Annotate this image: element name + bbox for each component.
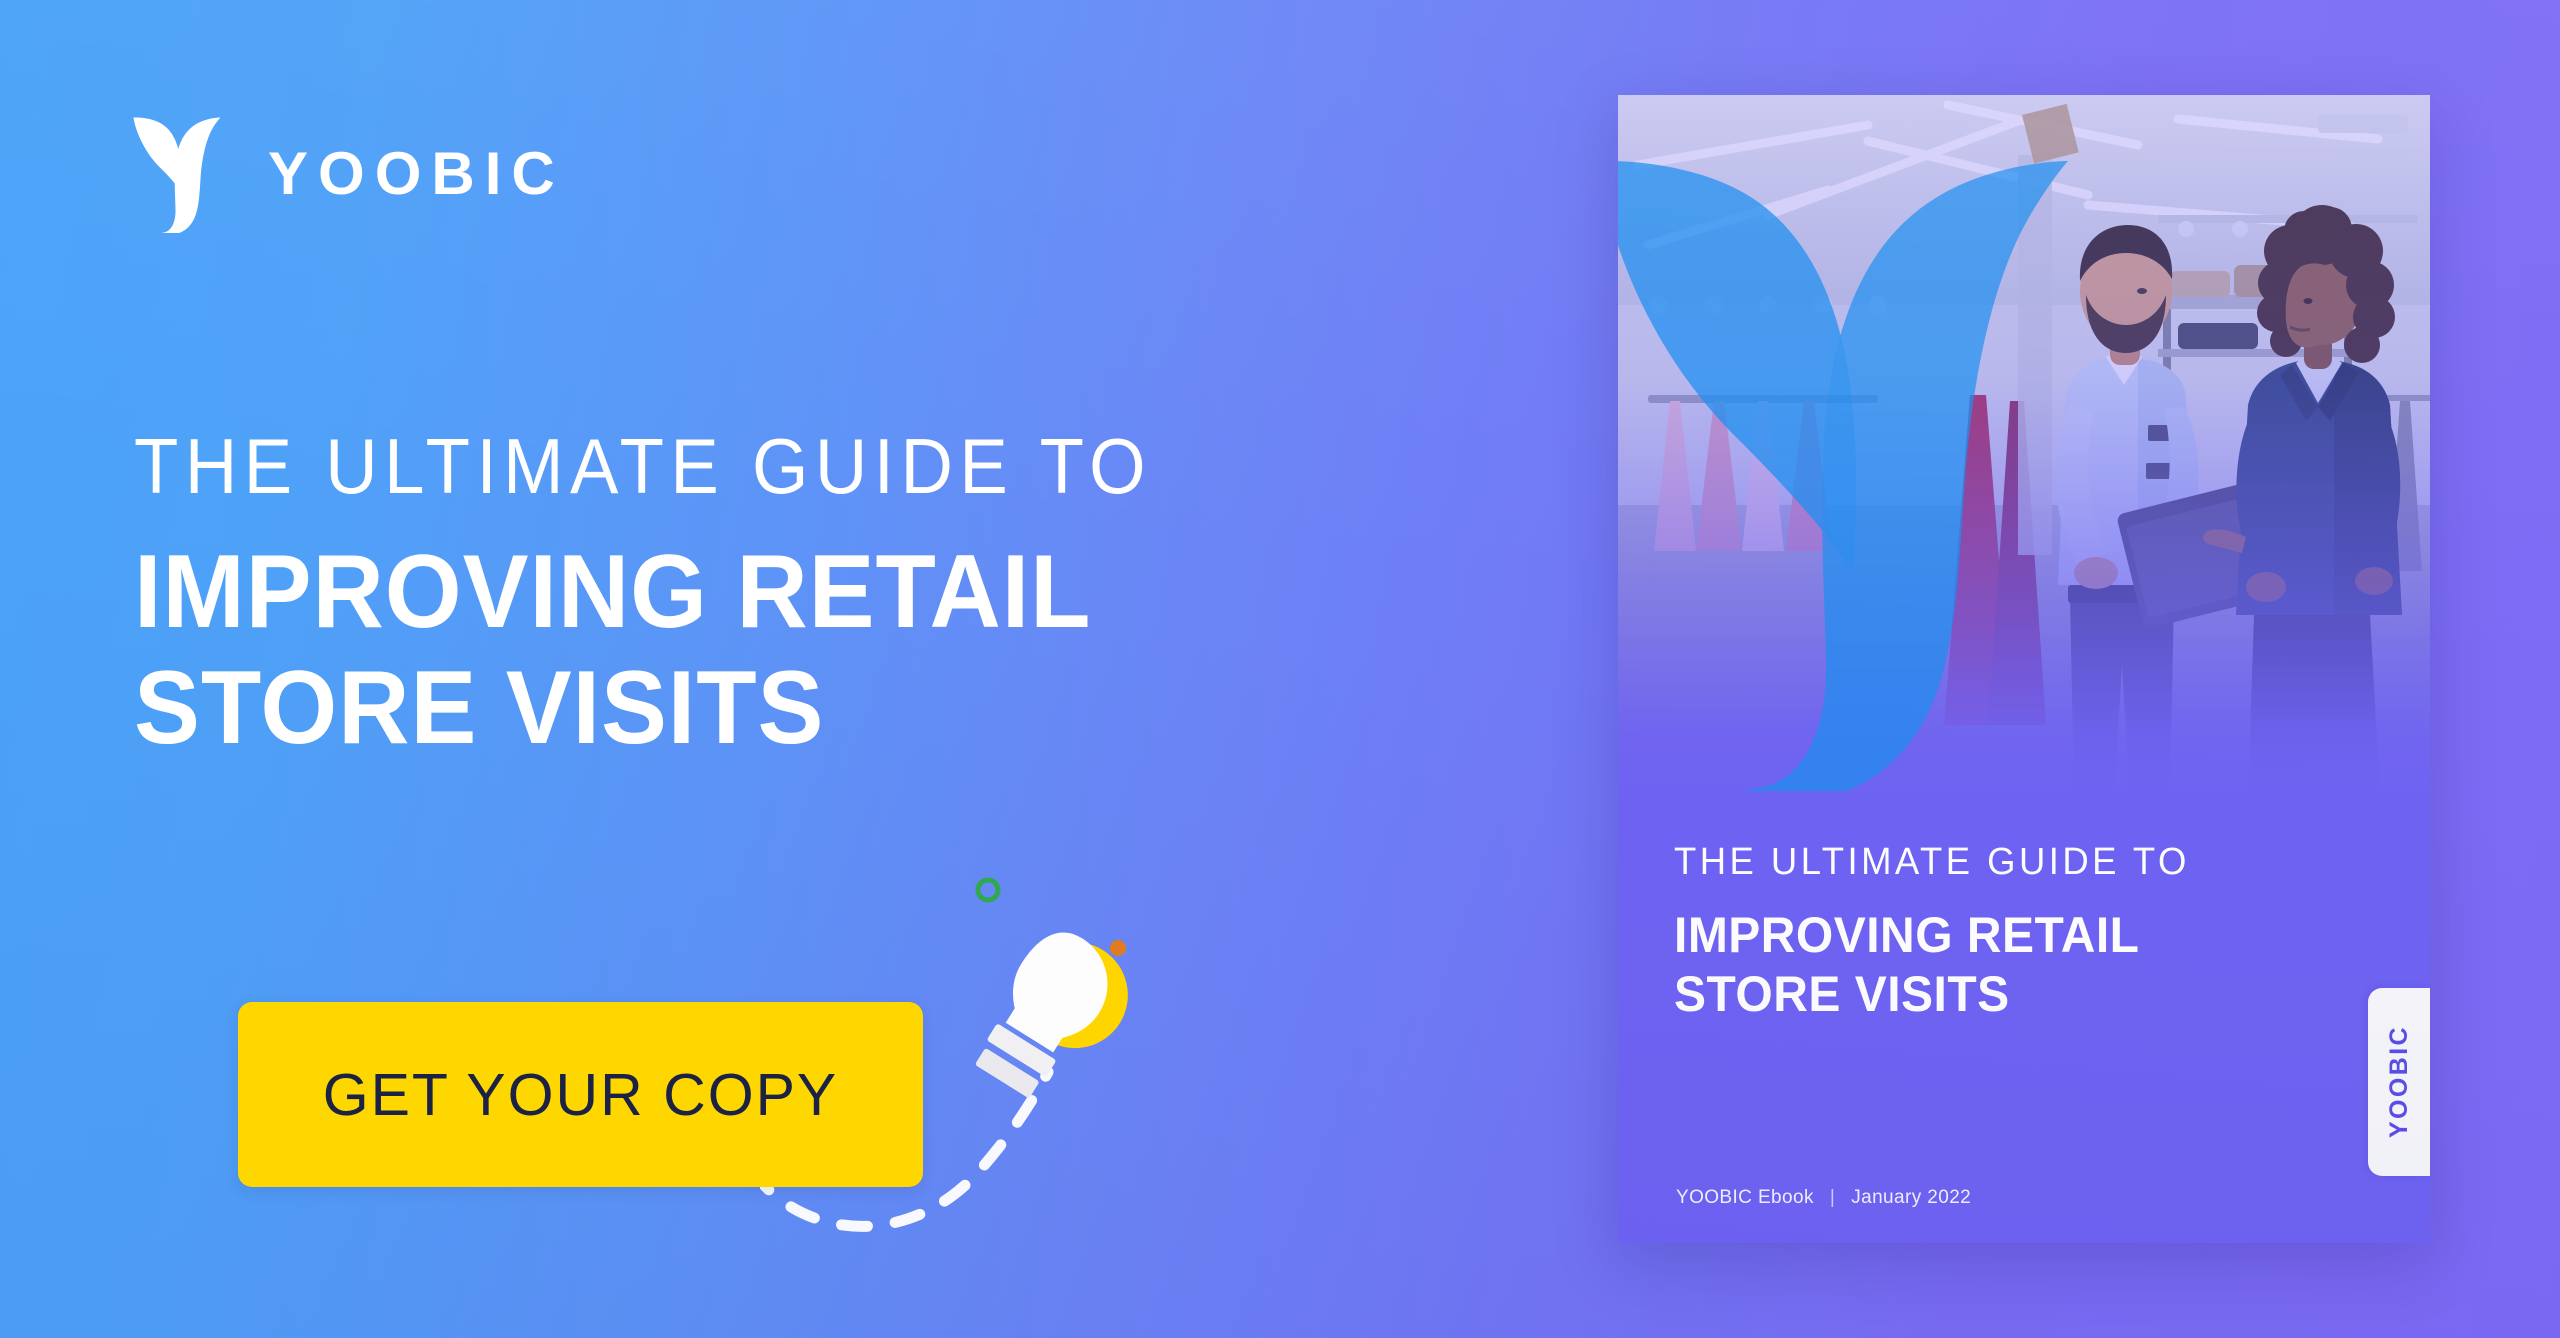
hero-kicker: THE ULTIMATE GUIDE TO bbox=[134, 425, 1399, 508]
cover-footer-source: YOOBIC Ebook bbox=[1676, 1187, 1814, 1209]
hero-title: IMPROVING RETAIL STORE VISITS bbox=[134, 534, 1426, 767]
cover-side-tab: YOOBIC bbox=[2368, 988, 2430, 1176]
promo-banner: YOOBIC THE ULTIMATE GUIDE TO IMPROVING R… bbox=[0, 0, 2560, 1338]
cover-headline: THE ULTIMATE GUIDE TO IMPROVING RETAIL S… bbox=[1674, 841, 2374, 1024]
cover-title-line-2: STORE VISITS bbox=[1674, 965, 2346, 1024]
yoobic-y-mark-icon bbox=[132, 115, 222, 233]
hero-content: YOOBIC THE ULTIMATE GUIDE TO IMPROVING R… bbox=[132, 0, 1532, 1338]
cover-photo bbox=[1618, 95, 2430, 795]
cover-title: IMPROVING RETAIL STORE VISITS bbox=[1674, 906, 2346, 1024]
brand-logo[interactable]: YOOBIC bbox=[132, 115, 565, 233]
hero-headline: THE ULTIMATE GUIDE TO IMPROVING RETAIL S… bbox=[134, 425, 1494, 767]
cover-footer-separator: | bbox=[1830, 1187, 1835, 1209]
cover-side-tab-label: YOOBIC bbox=[2385, 1025, 2414, 1138]
ebook-cover-card[interactable]: THE ULTIMATE GUIDE TO IMPROVING RETAIL S… bbox=[1618, 95, 2430, 1243]
get-your-copy-button[interactable]: GET YOUR COPY bbox=[238, 1002, 923, 1187]
cover-title-line-1: IMPROVING RETAIL bbox=[1674, 906, 2346, 965]
brand-name: YOOBIC bbox=[268, 144, 565, 204]
hero-title-line-1: IMPROVING RETAIL bbox=[134, 534, 1426, 650]
cover-footer-date: January 2022 bbox=[1851, 1187, 1971, 1209]
cover-kicker: THE ULTIMATE GUIDE TO bbox=[1674, 841, 2346, 884]
hero-title-line-2: STORE VISITS bbox=[134, 650, 1426, 766]
cover-footer: YOOBIC Ebook | January 2022 bbox=[1676, 1187, 1971, 1209]
